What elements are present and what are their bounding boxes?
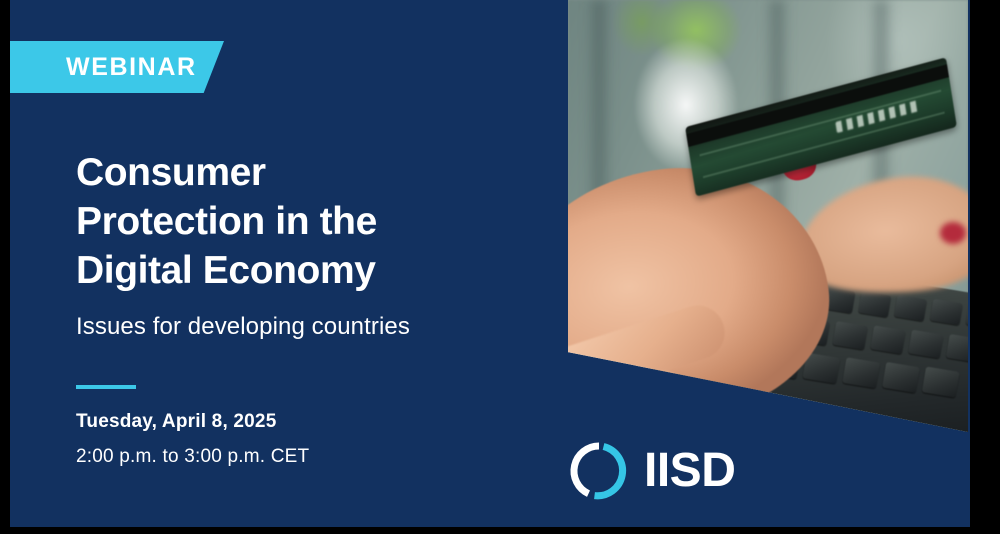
iisd-circle-mark [568, 440, 630, 502]
page-subtitle: Issues for developing countries [76, 313, 410, 341]
fingernail [940, 222, 966, 244]
frame-edge-right [970, 0, 1000, 534]
title-line-3: Digital Economy [76, 246, 546, 295]
event-time: 2:00 p.m. to 3:00 p.m. CET [76, 446, 309, 468]
accent-divider [76, 385, 136, 389]
webinar-badge-label: WEBINAR [10, 53, 197, 82]
event-date: Tuesday, April 8, 2025 [76, 411, 276, 433]
finger [568, 422, 680, 432]
webinar-badge: WEBINAR [10, 41, 224, 93]
webinar-promo-poster: WEBINAR Consumer Protection in the Digit… [0, 0, 1000, 534]
frame-edge-left [0, 0, 10, 534]
title-line-1: Consumer [76, 148, 546, 197]
iisd-wordmark: IISD [644, 447, 735, 495]
page-title: Consumer Protection in the Digital Econo… [76, 148, 546, 295]
title-line-2: Protection in the [76, 197, 546, 246]
hero-photo [568, 0, 968, 432]
poster-canvas: WEBINAR Consumer Protection in the Digit… [10, 0, 970, 527]
finger [568, 299, 732, 408]
frame-edge-bottom [0, 527, 1000, 534]
iisd-logo: IISD [568, 440, 735, 502]
finger [568, 365, 696, 432]
